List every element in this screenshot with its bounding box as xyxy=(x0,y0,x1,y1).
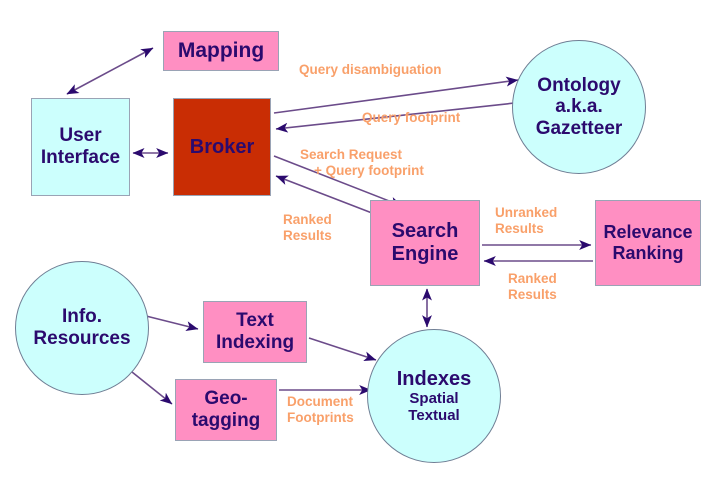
edge-label-document-footprints: Document Footprints xyxy=(287,394,354,427)
edge-text-indexing-to-indexes xyxy=(309,338,376,360)
edge-label-ranked-results-broker-line1: Ranked xyxy=(283,212,332,228)
node-broker[interactable]: Broker xyxy=(173,98,271,196)
edge-label-query-footprint: Query footprint xyxy=(362,110,460,126)
node-indexes[interactable]: Indexes Spatial Textual xyxy=(367,329,501,463)
node-user-interface-label-line2: Interface xyxy=(41,147,120,169)
node-geo-tagging[interactable]: Geo- tagging xyxy=(175,379,277,441)
node-broker-label: Broker xyxy=(190,136,254,159)
node-ontology-label-line3: Gazetteer xyxy=(536,118,623,140)
edge-label-document-footprints-line2: Footprints xyxy=(287,410,354,426)
node-geo-tagging-label-line1: Geo- xyxy=(204,388,247,410)
node-info-resources[interactable]: Info. Resources xyxy=(15,261,149,395)
edge-label-ranked-results-engine-line2: Results xyxy=(508,287,557,303)
edge-search-engine-to-broker xyxy=(276,176,372,213)
node-text-indexing[interactable]: Text Indexing xyxy=(203,301,307,363)
node-indexes-label: Indexes xyxy=(397,368,471,391)
node-search-engine-label-line1: Search xyxy=(392,220,459,243)
edge-label-search-request-line2: + Query footprint xyxy=(300,163,424,179)
node-user-interface[interactable]: User Interface xyxy=(31,98,130,196)
node-user-interface-label-line1: User xyxy=(59,125,101,147)
node-mapping-label: Mapping xyxy=(178,39,264,63)
node-text-indexing-label-line2: Indexing xyxy=(216,332,294,354)
edge-label-unranked-results-line2: Results xyxy=(495,221,557,237)
node-indexes-subline-textual: Textual xyxy=(408,407,459,424)
edge-label-ranked-results-broker: Ranked Results xyxy=(283,212,332,245)
node-text-indexing-label-line1: Text xyxy=(236,310,274,332)
edge-label-query-disambiguation: Query disambiguation xyxy=(299,62,442,78)
edge-broker-to-ontology-disambiguation xyxy=(274,80,518,113)
architecture-diagram: Mapping User Interface Broker Ontology a… xyxy=(0,0,724,482)
node-relevance-ranking[interactable]: Relevance Ranking xyxy=(595,200,701,286)
node-info-resources-label-line1: Info. xyxy=(62,306,102,328)
edge-label-unranked-results-line1: Unranked xyxy=(495,205,557,221)
edge-user-interface-to-mapping xyxy=(67,48,153,94)
node-relevance-ranking-label-line1: Relevance xyxy=(603,222,692,243)
node-ontology[interactable]: Ontology a.k.a. Gazetteer xyxy=(512,40,646,174)
node-geo-tagging-label-line2: tagging xyxy=(192,410,261,432)
node-relevance-ranking-label-line2: Ranking xyxy=(612,243,683,264)
edge-label-ranked-results-engine: Ranked Results xyxy=(508,271,557,304)
node-search-engine-label-line2: Engine xyxy=(392,243,459,266)
edge-info-resources-to-geo-tagging xyxy=(132,372,172,404)
edge-label-document-footprints-line1: Document xyxy=(287,394,354,410)
edge-label-query-disambiguation-line1: Query disambiguation xyxy=(299,62,442,77)
edge-label-search-request-line1: Search Request xyxy=(300,147,424,163)
edge-label-ranked-results-broker-line2: Results xyxy=(283,228,332,244)
node-indexes-subline-spatial: Spatial xyxy=(409,390,458,407)
edge-label-query-footprint-line1: Query footprint xyxy=(362,110,460,125)
edge-label-unranked-results: Unranked Results xyxy=(495,205,557,238)
node-ontology-label-line1: Ontology xyxy=(537,75,620,97)
node-search-engine[interactable]: Search Engine xyxy=(370,200,480,286)
node-info-resources-label-line2: Resources xyxy=(33,328,130,350)
edge-label-search-request: Search Request + Query footprint xyxy=(300,147,424,180)
node-ontology-label-line2: a.k.a. xyxy=(555,96,603,118)
edge-info-resources-to-text-indexing xyxy=(142,315,198,329)
node-mapping[interactable]: Mapping xyxy=(163,31,279,71)
edge-label-ranked-results-engine-line1: Ranked xyxy=(508,271,557,287)
